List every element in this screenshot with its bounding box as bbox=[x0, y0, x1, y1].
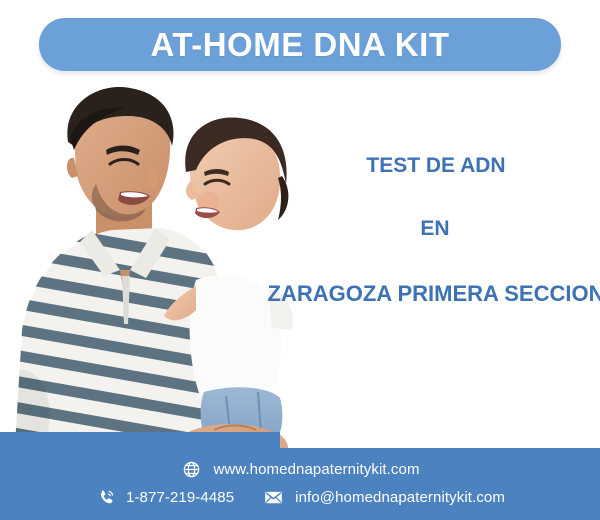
headline-line-2: EN bbox=[240, 218, 600, 240]
contact-email[interactable]: info@homednapaternitykit.com bbox=[262, 486, 505, 508]
phone-text: 1-877-219-4485 bbox=[126, 489, 234, 506]
email-text: info@homednapaternitykit.com bbox=[295, 489, 505, 506]
headline-line-3: ZARAGOZA PRIMERA SECCION bbox=[240, 282, 600, 305]
poster-canvas: AT-HOME DNA KIT bbox=[0, 0, 600, 520]
footer-row-phone-email: 1-877-219-4485 info@homednapaternitykit.… bbox=[0, 486, 600, 508]
footer-bar: www.homednapaternitykit.com 1-877-219-44… bbox=[0, 448, 600, 520]
footer-row-website: www.homednapaternitykit.com bbox=[0, 458, 600, 480]
website-text: www.homednapaternitykit.com bbox=[213, 461, 419, 478]
envelope-icon bbox=[262, 486, 284, 508]
header-banner: AT-HOME DNA KIT bbox=[39, 18, 561, 71]
page-title: AT-HOME DNA KIT bbox=[151, 28, 450, 61]
headline-line-1: TEST DE ADN bbox=[240, 155, 600, 177]
contact-website[interactable]: www.homednapaternitykit.com bbox=[180, 458, 419, 480]
contact-phone[interactable]: 1-877-219-4485 bbox=[95, 486, 234, 508]
headline-block: TEST DE ADN EN ZARAGOZA PRIMERA SECCION bbox=[240, 155, 600, 305]
globe-icon bbox=[180, 458, 202, 480]
phone-icon bbox=[95, 486, 117, 508]
